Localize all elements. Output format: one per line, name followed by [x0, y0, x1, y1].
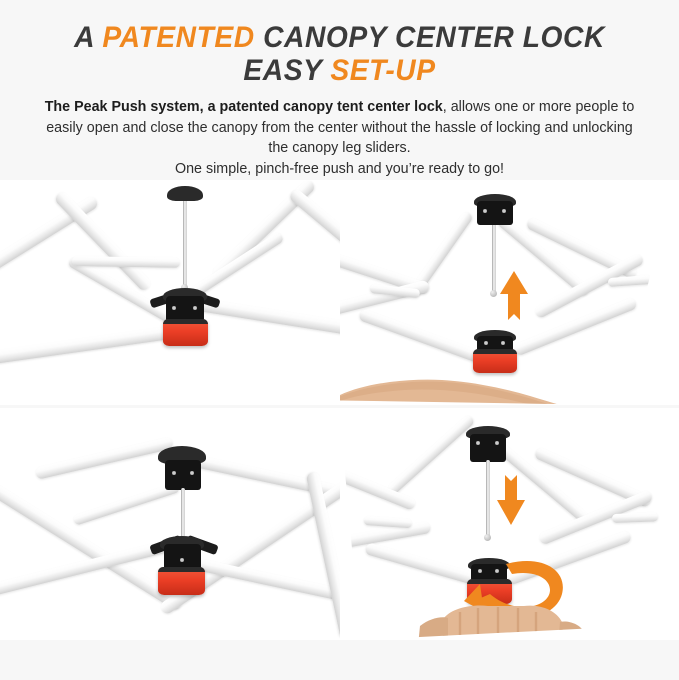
- canopy-truss-pole: [612, 512, 658, 523]
- canopy-scene-bottom-right: [340, 408, 679, 640]
- hub-screw: [484, 341, 488, 345]
- panel-bottom-right: [340, 408, 679, 640]
- promo-page: A PATENTED CANOPY CENTER LOCK EASY SET-U…: [0, 0, 679, 679]
- panel-top-left: [0, 180, 340, 405]
- canopy-pole: [288, 188, 340, 275]
- canopy-scene-top-left: [0, 180, 340, 405]
- photo-plate-bottom-left: [0, 408, 340, 640]
- headline-text-setup: SET-UP: [330, 54, 435, 87]
- bottom-strip: [0, 640, 679, 680]
- hub-screw: [172, 471, 176, 475]
- hub-screw: [502, 209, 506, 213]
- canopy-truss-pole: [72, 482, 180, 526]
- canopy-pole: [35, 437, 174, 480]
- hub-screw: [180, 558, 184, 562]
- hub-screw: [172, 306, 176, 310]
- headline-text-a: A: [74, 21, 102, 54]
- body-copy-bold-lead: The Peak Push system, a patented canopy …: [45, 99, 443, 115]
- red-lock-collar: [163, 319, 208, 346]
- hub-screw: [476, 441, 480, 445]
- canopy-scene-top-right: [340, 180, 679, 405]
- hub-screw: [483, 209, 487, 213]
- hub-screw: [501, 341, 505, 345]
- open-hand-illustration: [340, 358, 634, 405]
- center-rod-tip: [490, 290, 497, 297]
- two-hands-illustration: [348, 594, 648, 640]
- photo-plate-bottom-right: [340, 408, 679, 640]
- hub-body: [477, 201, 513, 225]
- center-rod: [183, 196, 187, 288]
- center-rod: [492, 222, 496, 294]
- center-rod-tip: [484, 534, 491, 541]
- headline-line-2: EASY SET-UP: [20, 54, 658, 87]
- hub-body: [470, 434, 506, 462]
- center-rod: [181, 488, 185, 540]
- headline-text-patented: PATENTED: [102, 21, 254, 54]
- canopy-truss-pole: [608, 275, 653, 287]
- hub-screw: [190, 471, 194, 475]
- rod-top-knob: [167, 186, 203, 201]
- arrow-down-icon: [494, 468, 528, 526]
- headline-text-rest: CANOPY CENTER LOCK: [255, 21, 605, 54]
- image-grid: [0, 180, 679, 640]
- canopy-scene-bottom-left: [0, 408, 340, 640]
- hub-screw: [495, 441, 499, 445]
- body-copy-closing: One simple, pinch-free push and you’re r…: [40, 159, 640, 180]
- canopy-pole: [513, 297, 638, 357]
- panel-bottom-left: [0, 408, 340, 640]
- hub-screw: [193, 306, 197, 310]
- canopy-pole: [0, 326, 175, 365]
- hub-body: [165, 460, 201, 490]
- red-lock-collar: [158, 567, 205, 595]
- canopy-truss-pole: [72, 256, 180, 268]
- headline-text-easy: EASY: [243, 54, 330, 87]
- body-copy: The Peak Push system, a patented canopy …: [40, 97, 640, 179]
- photo-plate-top-right: [340, 180, 679, 405]
- canopy-pole: [386, 414, 475, 496]
- headline-block: A PATENTED CANOPY CENTER LOCK EASY SET-U…: [0, 0, 679, 87]
- photo-plate-top-left: [0, 180, 340, 405]
- body-copy-paragraph: The Peak Push system, a patented canopy …: [45, 99, 635, 156]
- canopy-truss-pole: [364, 516, 413, 528]
- canopy-pole: [358, 308, 484, 364]
- arrow-up-icon: [497, 270, 531, 326]
- headline-line-1: A PATENTED CANOPY CENTER LOCK: [20, 21, 658, 54]
- center-rod: [486, 460, 490, 538]
- canopy-pole: [195, 558, 340, 605]
- panel-top-right: [340, 180, 679, 405]
